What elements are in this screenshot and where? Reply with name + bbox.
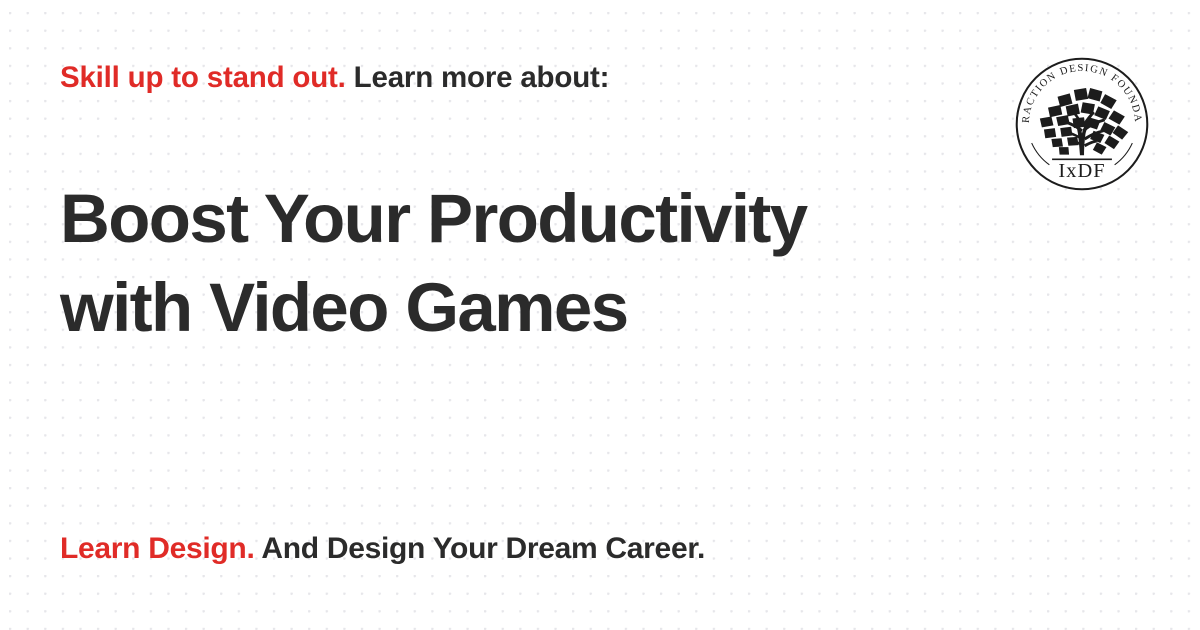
- tagline-rest-text: And Design Your Dream Career.: [254, 532, 705, 565]
- tagline-line: Learn Design. And Design Your Dream Care…: [60, 528, 705, 570]
- ixdf-logo[interactable]: INTERACTION DESIGN FOUNDATION: [1014, 56, 1150, 192]
- page-title: Boost Your Productivity with Video Games: [60, 174, 960, 352]
- tagline-accent-text: Learn Design.: [60, 532, 254, 565]
- social-share-card: INTERACTION DESIGN FOUNDATION: [0, 0, 1200, 630]
- eyebrow-line: Skill up to stand out. Learn more about:: [60, 58, 609, 98]
- eyebrow-accent-text: Skill up to stand out.: [60, 61, 346, 94]
- eyebrow-rest-text: Learn more about:: [346, 61, 610, 94]
- logo-wordmark: IxDF: [1058, 160, 1105, 182]
